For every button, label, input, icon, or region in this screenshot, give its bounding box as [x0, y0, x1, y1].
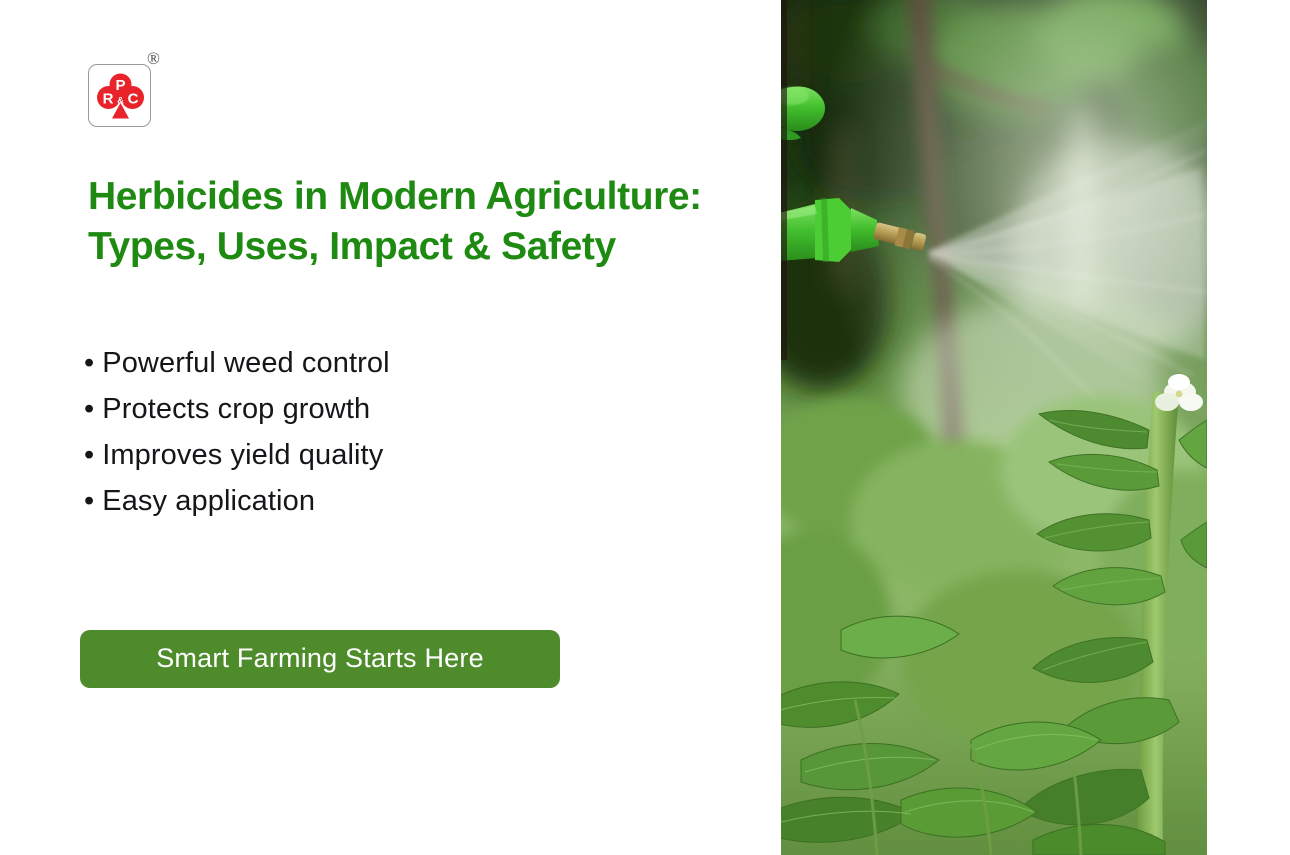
- sprayer-crop-photo-illustration: [781, 0, 1207, 855]
- bullet-icon: •: [84, 347, 94, 379]
- promo-poster: P R & C ® Herbicides in Modern Agricultu…: [0, 0, 1290, 855]
- list-item: •Powerful weed control: [84, 340, 704, 386]
- list-item-label: Easy application: [102, 485, 315, 517]
- logo-box: P R & C: [88, 64, 151, 127]
- photo-left-edge: [781, 0, 787, 360]
- hero-photo: [781, 0, 1207, 855]
- list-item: •Easy application: [84, 478, 704, 524]
- content-column: P R & C ® Herbicides in Modern Agricultu…: [0, 0, 781, 855]
- list-item-label: Improves yield quality: [102, 439, 383, 471]
- cta-button[interactable]: Smart Farming Starts Here: [80, 630, 560, 688]
- list-item-label: Protects crop growth: [102, 393, 370, 425]
- prc-clover-logo-icon: P R & C: [89, 65, 152, 128]
- cta-button-label: Smart Farming Starts Here: [156, 643, 484, 674]
- bullet-icon: •: [84, 439, 94, 471]
- svg-text:C: C: [128, 91, 139, 108]
- registered-trademark-icon: ®: [147, 50, 160, 67]
- svg-text:&: &: [117, 96, 124, 106]
- bullet-icon: •: [84, 485, 94, 517]
- page-title-line-2: Types, Uses, Impact & Safety: [88, 222, 748, 272]
- bullet-icon: •: [84, 393, 94, 425]
- svg-text:R: R: [103, 91, 114, 108]
- list-item-label: Powerful weed control: [102, 347, 389, 379]
- list-item: •Improves yield quality: [84, 432, 704, 478]
- brand-logo[interactable]: P R & C ®: [88, 50, 164, 132]
- page-title-line-1: Herbicides in Modern Agriculture:: [88, 172, 748, 222]
- page-title: Herbicides in Modern Agriculture: Types,…: [88, 172, 748, 272]
- benefits-list: •Powerful weed control •Protects crop gr…: [84, 340, 704, 524]
- list-item: •Protects crop growth: [84, 386, 704, 432]
- svg-text:P: P: [115, 77, 125, 94]
